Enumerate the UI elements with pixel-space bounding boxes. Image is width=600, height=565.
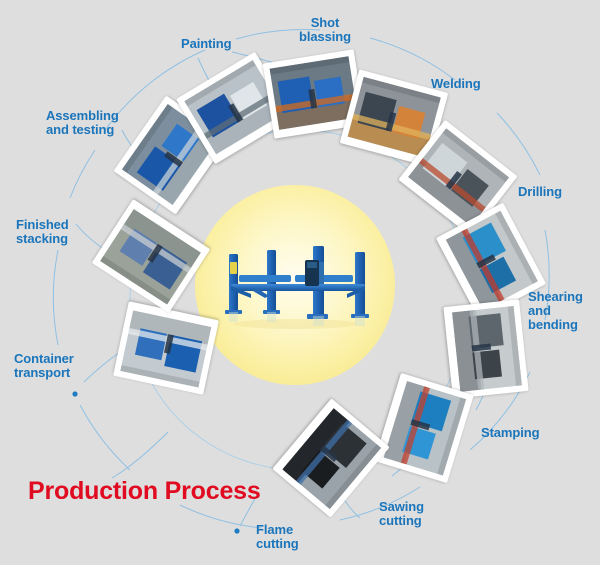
- process-label-flame-cutting[interactable]: Flame cutting: [256, 523, 299, 551]
- process-label-container-transport[interactable]: Container transport: [14, 352, 74, 380]
- process-photo: [452, 306, 522, 392]
- page-title: Production Process: [28, 477, 261, 506]
- arc-segment: [53, 250, 58, 345]
- process-label-assembling-and-testing[interactable]: Assembling and testing: [46, 109, 119, 137]
- process-label-shearing-and-bending[interactable]: Shearing and bending: [528, 290, 583, 332]
- tile-stamping[interactable]: [443, 299, 528, 398]
- connector-dot: [234, 528, 239, 533]
- arc-segment: [370, 38, 455, 80]
- process-label-painting[interactable]: Painting: [181, 37, 231, 51]
- production-process-infographic: Shot blassingWeldingDrillingShearing and…: [0, 0, 600, 565]
- connector-dot: [72, 391, 77, 396]
- process-label-sawing-cutting[interactable]: Sawing cutting: [379, 500, 424, 528]
- process-label-welding[interactable]: Welding: [431, 77, 481, 91]
- process-label-finished-stacking[interactable]: Finished stacking: [16, 218, 69, 246]
- connector-line: [112, 432, 168, 478]
- process-label-stamping[interactable]: Stamping: [481, 426, 539, 440]
- four-post-car-lift-illustration: [207, 228, 383, 346]
- connector-dots: [72, 391, 239, 533]
- arc-segment: [70, 150, 95, 198]
- process-label-drilling[interactable]: Drilling: [518, 185, 562, 199]
- process-label-shot-blassing[interactable]: Shot blassing: [299, 16, 351, 44]
- process-photo: [269, 56, 358, 130]
- arc-segment: [80, 405, 130, 470]
